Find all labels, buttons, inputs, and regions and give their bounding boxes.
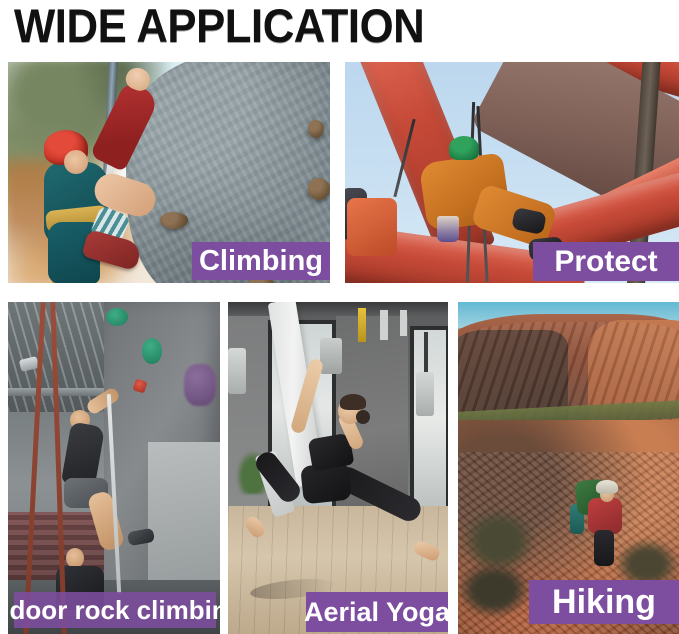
paint-bucket xyxy=(437,216,459,242)
hanging-towel xyxy=(320,338,342,374)
wall-hold-purple xyxy=(184,364,216,406)
hiker-hat xyxy=(596,480,618,494)
ceiling-beam xyxy=(228,302,448,316)
studio-window xyxy=(410,326,448,512)
hiker-legs xyxy=(594,530,614,566)
caption-aerial-yoga: Aerial Yoga xyxy=(306,592,448,632)
equipment-bag-orange xyxy=(347,198,397,256)
wall-hold-green xyxy=(106,308,128,326)
yogi-hair xyxy=(340,394,366,410)
belayer-head xyxy=(66,548,84,568)
hanging-strap-yellow xyxy=(358,308,366,342)
photo-indoor-scene xyxy=(8,302,220,634)
hanging-towel xyxy=(416,372,434,416)
climber-face xyxy=(64,150,88,174)
gallery-tile-protect[interactable]: Protect xyxy=(345,62,679,283)
page-title: WIDE APPLICATION xyxy=(14,0,424,56)
photo-yoga-scene xyxy=(228,302,448,634)
caption-climbing: Climbing xyxy=(192,242,330,280)
hanging-strap xyxy=(380,310,388,340)
caption-protect: Protect xyxy=(533,242,679,281)
wall-hold-green xyxy=(142,338,162,364)
caption-indoor-rock-climbing: Indoor rock climbing xyxy=(14,592,216,628)
gallery-tile-climbing[interactable]: Climbing xyxy=(8,62,330,283)
desert-bush xyxy=(462,508,536,568)
hiker-jacket xyxy=(588,498,622,534)
hanging-strap xyxy=(400,310,407,336)
gallery-tile-indoor-rock-climbing[interactable]: Indoor rock climbing xyxy=(8,302,220,634)
worker-helmet xyxy=(449,136,479,160)
hanging-towel xyxy=(228,348,246,394)
yogi-hair-bun xyxy=(356,410,370,424)
gallery-tile-aerial-yoga[interactable]: Aerial Yoga xyxy=(228,302,448,634)
gallery-tile-hiking[interactable]: Hiking xyxy=(458,302,679,634)
desert-bush xyxy=(458,562,530,618)
caption-hiking: Hiking xyxy=(529,580,679,624)
